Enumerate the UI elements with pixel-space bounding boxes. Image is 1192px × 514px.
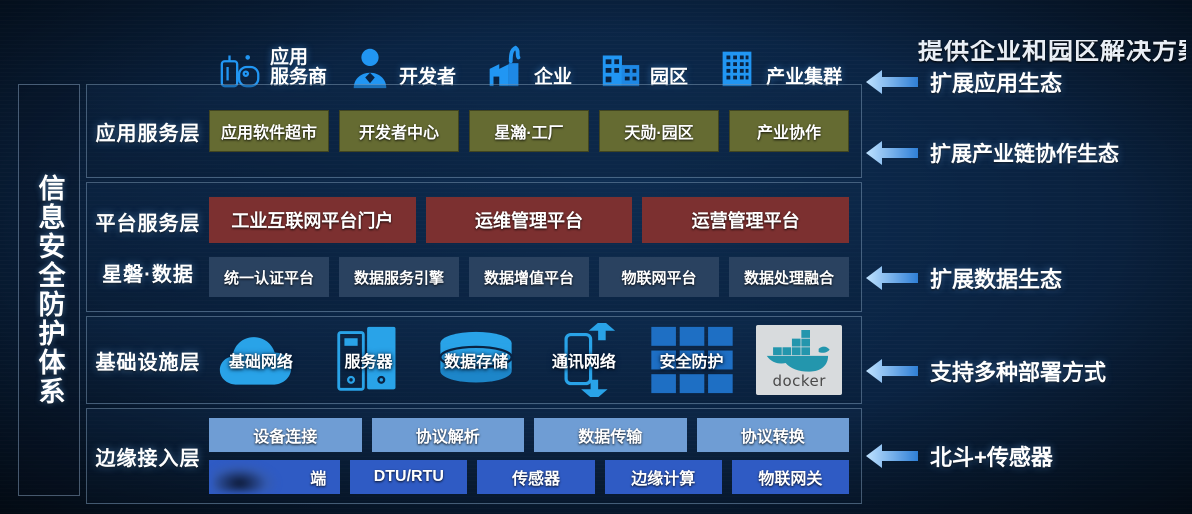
app-cell-industry-collab[interactable]: 产业协作 [729, 110, 849, 152]
layer-edge-access: 边缘接入层 设备连接 协议解析 数据传输 协议转换 端 DTU/RTU 传感器 … [86, 408, 862, 504]
infra-label: 数据存储 [444, 348, 508, 372]
left-arrow-icon [866, 140, 918, 166]
infra-item-server[interactable]: 服务器 [317, 323, 421, 397]
layer-row-edge-bottom: 端 DTU/RTU 传感器 边缘计算 物联网关 [209, 460, 849, 494]
data-cell-unified-auth[interactable]: 统一认证平台 [209, 257, 329, 297]
clipped-headline: 提供企业和园区解决方案 [918, 40, 1186, 66]
layer-rows: 设备连接 协议解析 数据传输 协议转换 端 DTU/RTU 传感器 边缘计算 物… [209, 418, 861, 494]
left-arrow-icon [866, 265, 918, 291]
infra-item-docker[interactable]: docker [747, 323, 851, 397]
app-cell-xinghan-factory[interactable]: 星瀚·工厂 [469, 110, 589, 152]
edge-cell-data-transfer[interactable]: 数据传输 [534, 418, 687, 452]
annotation-multi-deployment: 支持多种部署方式 [866, 355, 1106, 387]
layer-rows: 应用软件超市 开发者中心 星瀚·工厂 天勋·园区 产业协作 [209, 110, 861, 152]
data-cell-service-engine[interactable]: 数据服务引擎 [339, 257, 459, 297]
stakeholder-label-line1: 应用 [270, 47, 308, 68]
edge-cell-sensor[interactable]: 传感器 [477, 460, 594, 494]
left-arrow-icon [866, 69, 918, 95]
docker-wordmark: docker [772, 372, 826, 390]
blur-smudge [213, 462, 279, 492]
edge-cell-dtu-rtu[interactable]: DTU/RTU [350, 460, 467, 494]
security-system-label: 信息安全防护体系 [36, 174, 63, 406]
docker-whale-icon: docker [756, 325, 842, 395]
clipped-headline-text: 提供企业和园区解决方案 [918, 40, 1186, 66]
plat-cell-operation-mgmt[interactable]: 运营管理平台 [642, 197, 849, 243]
app-cell-software-market[interactable]: 应用软件超市 [209, 110, 329, 152]
annotation-expand-data-ecosystem: 扩展数据生态 [866, 262, 1062, 294]
left-arrow-icon [866, 358, 918, 384]
annotation-text: 支持多种部署方式 [930, 355, 1106, 387]
edge-cell-iot-gateway[interactable]: 物联网关 [732, 460, 849, 494]
edge-cell-device-connect[interactable]: 设备连接 [209, 418, 362, 452]
plat-cell-ops-mgmt[interactable]: 运维管理平台 [426, 197, 633, 243]
annotation-beidou-sensor: 北斗+传感器 [866, 440, 1053, 472]
annotation-text: 扩展应用生态 [930, 66, 1062, 98]
annotation-text: 扩展产业链协作生态 [930, 138, 1119, 168]
layer-platform-service: 平台服务层 星磐·数据 工业互联网平台门户 运维管理平台 运营管理平台 统一认证… [86, 182, 862, 312]
infra-item-data-storage[interactable]: 数据存储 [424, 323, 528, 397]
layer-row-platform: 工业互联网平台门户 运维管理平台 运营管理平台 [209, 197, 849, 243]
data-cell-iot-platform[interactable]: 物联网平台 [599, 257, 719, 297]
layer-label-stack: 平台服务层 星磐·数据 [87, 207, 209, 287]
layer-label-application: 应用服务层 [87, 117, 209, 146]
edge-cell-edge-computing[interactable]: 边缘计算 [605, 460, 722, 494]
infra-item-security[interactable]: 安全防护 [640, 323, 744, 397]
layer-application-service: 应用服务层 应用软件超市 开发者中心 星瀚·工厂 天勋·园区 产业协作 [86, 84, 862, 178]
security-system-band: 信息安全防护体系 [18, 84, 80, 496]
app-cell-tianxun-park[interactable]: 天勋·园区 [599, 110, 719, 152]
left-arrow-icon [866, 443, 918, 469]
edge-cell-protocol-convert[interactable]: 协议转换 [697, 418, 850, 452]
infra-label: 安全防护 [660, 348, 724, 372]
stakeholder-icon-strip: 应用 服务商 开发者 [218, 38, 878, 90]
infra-item-comm-network[interactable]: 通讯网络 [532, 323, 636, 397]
layer-row-edge-top: 设备连接 协议解析 数据传输 协议转换 [209, 418, 849, 452]
infra-label: 通讯网络 [552, 348, 616, 372]
layer-rows: 工业互联网平台门户 运维管理平台 运营管理平台 统一认证平台 数据服务引擎 数据… [209, 197, 861, 297]
annotation-text: 扩展数据生态 [930, 262, 1062, 294]
infra-label: 基础网络 [229, 348, 293, 372]
annotation-text: 北斗+传感器 [930, 440, 1053, 472]
layer-label-platform: 平台服务层 [87, 207, 209, 236]
annotation-expand-app-ecosystem: 扩展应用生态 [866, 66, 1062, 98]
layer-label-edge: 边缘接入层 [87, 442, 209, 471]
layer-row: 应用软件超市 开发者中心 星瀚·工厂 天勋·园区 产业协作 [209, 110, 849, 152]
edge-cell-protocol-parse[interactable]: 协议解析 [372, 418, 525, 452]
infra-item-basic-network[interactable]: 基础网络 [209, 323, 313, 397]
data-cell-value-added[interactable]: 数据增值平台 [469, 257, 589, 297]
layer-label-xingpan-data: 星磐·数据 [87, 258, 209, 287]
edge-cell-terminal[interactable]: 端 [209, 460, 340, 494]
layer-row-data: 统一认证平台 数据服务引擎 数据增值平台 物联网平台 数据处理融合 [209, 257, 849, 297]
app-cell-developer-center[interactable]: 开发者中心 [339, 110, 459, 152]
infra-label: 服务器 [345, 348, 393, 372]
edge-cell-terminal-label: 端 [310, 465, 326, 489]
layer-infrastructure: 基础设施层 基础网络 [86, 316, 862, 404]
infrastructure-items: 基础网络 服务器 [209, 323, 861, 397]
annotation-expand-chain-collab: 扩展产业链协作生态 [866, 138, 1119, 168]
architecture-diagram: 信息安全防护体系 应用 服务商 [0, 0, 1192, 514]
layer-label-infrastructure: 基础设施层 [87, 346, 209, 375]
data-cell-processing-fusion[interactable]: 数据处理融合 [729, 257, 849, 297]
plat-cell-portal[interactable]: 工业互联网平台门户 [209, 197, 416, 243]
